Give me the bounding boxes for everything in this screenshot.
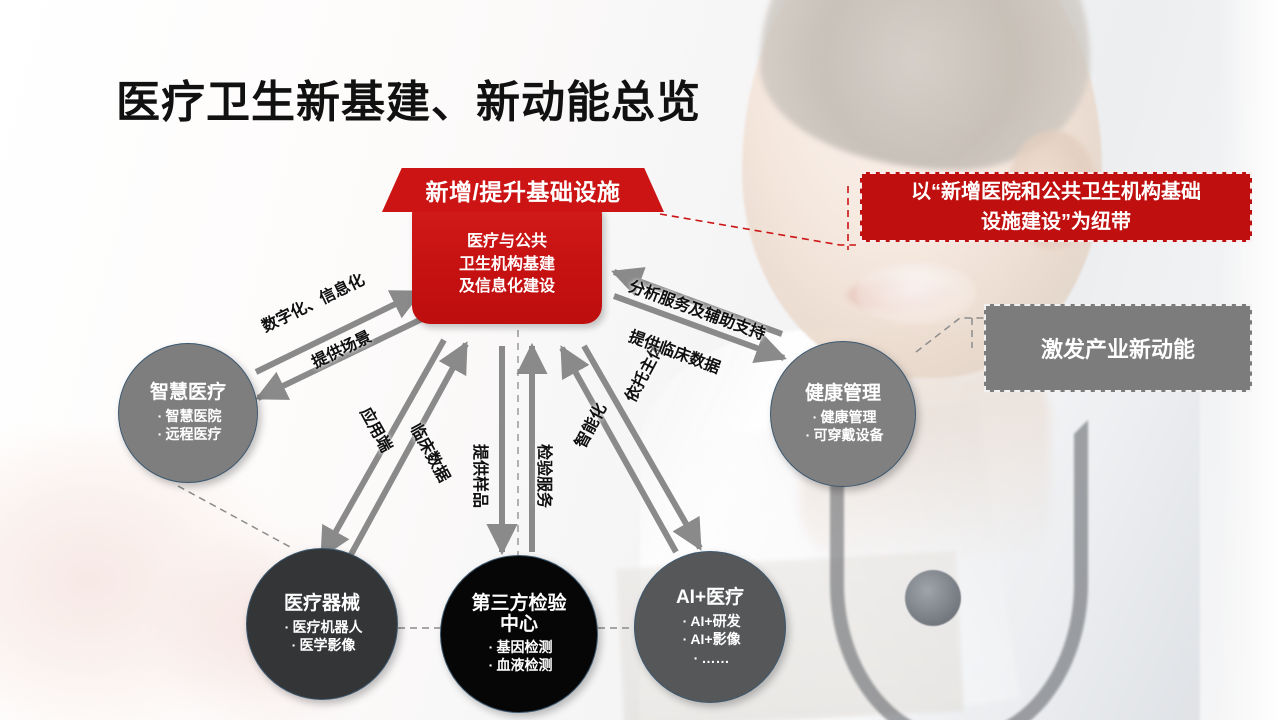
bullet-dot-icon: · (810, 408, 821, 426)
bullet-dot-icon: · (679, 630, 690, 648)
list-item: ·健康管理 (803, 408, 884, 426)
node-medical-device-item-2: 医学影像 (300, 637, 356, 653)
center-card-line-2: 卫生机构基建 (459, 254, 555, 277)
red-callout-line-1: 以“新增医院和公共卫生机构基础 (911, 177, 1201, 207)
list-item: ·AI+研发 (679, 612, 740, 630)
node-medical-device-title: 医疗器械 (284, 593, 360, 615)
bullet-dot-icon: · (155, 407, 166, 425)
arrow-clinical-data (348, 344, 466, 560)
node-health-management-item-1: 健康管理 (821, 409, 877, 425)
node-ai-medical-title: AI+医疗 (676, 587, 744, 609)
list-item: ·可穿戴设备 (803, 426, 884, 444)
arrow-intelligent (562, 348, 676, 552)
arrow-label-provide-sample: 提供样品 (470, 444, 494, 508)
bullet-dot-icon: · (486, 638, 497, 656)
bullet-dot-icon: · (803, 426, 814, 444)
node-health-management[interactable]: 健康管理 ·健康管理 ·可穿戴设备 (770, 341, 916, 487)
node-ai-medical-items: ·AI+研发 ·AI+影像 ·…… (679, 612, 740, 667)
ribbon-banner-label: 新增/提升基础设施 (426, 173, 621, 207)
red-callout-line-2: 设施建设”为纽带 (911, 207, 1201, 237)
dashed-link-smart-to-device (178, 486, 292, 548)
bullet-dot-icon: · (282, 618, 293, 636)
list-item: ·智慧医院 (155, 407, 222, 425)
node-third-party-lab-title-line-1: 第三方检验 (471, 593, 566, 614)
list-item: ·血液检测 (486, 656, 553, 674)
list-item: ·…… (679, 649, 740, 667)
list-item: ·AI+影像 (679, 630, 740, 648)
node-ai-medical-item-2: AI+影像 (690, 631, 740, 647)
bullet-dot-icon: · (679, 612, 690, 630)
node-medical-device-item-1: 医疗机器人 (293, 619, 363, 635)
node-medical-device-items: ·医疗机器人 ·医学影像 (282, 618, 363, 655)
gray-callout-label: 激发产业新动能 (1041, 332, 1195, 364)
node-ai-medical[interactable]: AI+医疗 ·AI+研发 ·AI+影像 ·…… (634, 551, 786, 703)
center-red-card: 医疗与公共 卫生机构基建 及信息化建设 (412, 206, 602, 324)
node-health-management-title: 健康管理 (805, 383, 881, 405)
node-smart-medical-items: ·智慧医院 ·远程医疗 (155, 407, 222, 444)
list-item: ·基因检测 (486, 638, 553, 656)
list-item: ·医学影像 (282, 636, 363, 654)
node-medical-device[interactable]: 医疗器械 ·医疗机器人 ·医学影像 (246, 548, 398, 700)
arrow-label-inspection-service: 检验服务 (534, 444, 558, 508)
list-item: ·远程医疗 (155, 425, 222, 443)
node-ai-medical-item-3: …… (702, 650, 730, 666)
ribbon-banner: 新增/提升基础设施 (382, 168, 664, 212)
node-health-management-items: ·健康管理 ·可穿戴设备 (803, 408, 884, 445)
center-card-line-1: 医疗与公共 (459, 231, 555, 254)
node-third-party-lab-item-1: 基因检测 (497, 639, 553, 655)
dashed-link-banner-to-red-callout (660, 214, 856, 245)
center-card-line-3: 及信息化建设 (459, 276, 555, 299)
list-item: ·医疗机器人 (282, 618, 363, 636)
dashed-link-health-to-gray-callout (916, 318, 984, 352)
bullet-dot-icon: · (155, 425, 166, 443)
node-third-party-lab-title-line-2: 中心 (500, 614, 538, 635)
node-third-party-lab-item-2: 血液检测 (497, 657, 553, 673)
red-callout-box: 以“新增医院和公共卫生机构基础 设施建设”为纽带 (860, 172, 1252, 242)
gray-callout-box: 激发产业新动能 (984, 304, 1252, 392)
node-health-management-item-2: 可穿戴设备 (814, 427, 884, 443)
node-smart-medical-title: 智慧医疗 (150, 382, 226, 404)
node-smart-medical-item-2: 远程医疗 (166, 426, 222, 442)
bullet-dot-icon: · (486, 656, 497, 674)
node-third-party-lab-items: ·基因检测 ·血液检测 (486, 638, 553, 675)
node-smart-medical-item-1: 智慧医院 (166, 408, 222, 424)
node-ai-medical-item-1: AI+研发 (690, 613, 740, 629)
slide-canvas: 医疗卫生新基建、新动能总览 (0, 0, 1280, 720)
bullet-dot-icon: · (691, 649, 702, 667)
node-smart-medical[interactable]: 智慧医疗 ·智慧医院 ·远程医疗 (118, 343, 258, 483)
node-third-party-lab[interactable]: 第三方检验 中心 ·基因检测 ·血液检测 (440, 555, 598, 713)
bullet-dot-icon: · (289, 636, 300, 654)
